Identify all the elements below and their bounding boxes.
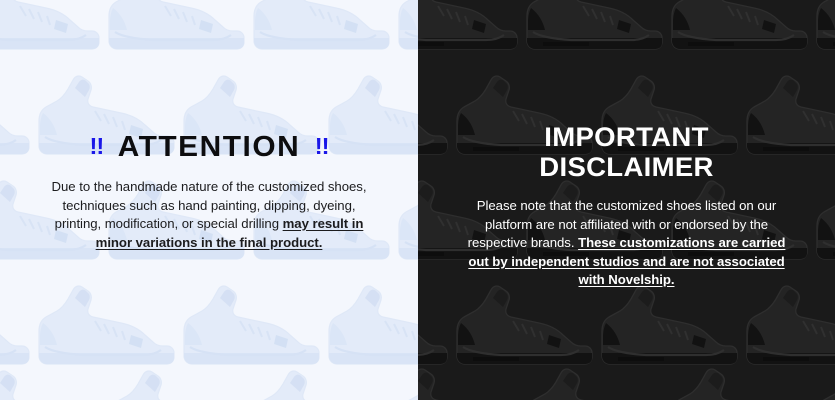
attention-panel: !! ATTENTION !! Due to the handmade natu… (0, 0, 418, 400)
attention-content: !! ATTENTION !! Due to the handmade natu… (0, 0, 418, 252)
disclaimer-body-text: Please note that the customized shoes li… (462, 197, 792, 290)
disclaimer-heading-line2: DISCLAIMER (418, 152, 835, 182)
attention-heading: !! ATTENTION !! (0, 133, 418, 162)
attention-heading-word: ATTENTION (118, 133, 301, 162)
disclaimer-content: IMPORTANT DISCLAIMER Please note that th… (418, 0, 835, 290)
double-exclamation-left-icon: !! (90, 135, 104, 158)
disclaimer-heading-line1: IMPORTANT (418, 122, 835, 152)
double-exclamation-right-icon: !! (315, 135, 329, 158)
attention-body-text: Due to the handmade nature of the custom… (44, 178, 374, 252)
dual-panel-disclaimer-banner: !! ATTENTION !! Due to the handmade natu… (0, 0, 835, 400)
disclaimer-heading: IMPORTANT DISCLAIMER (418, 122, 835, 182)
disclaimer-panel: IMPORTANT DISCLAIMER Please note that th… (418, 0, 835, 400)
